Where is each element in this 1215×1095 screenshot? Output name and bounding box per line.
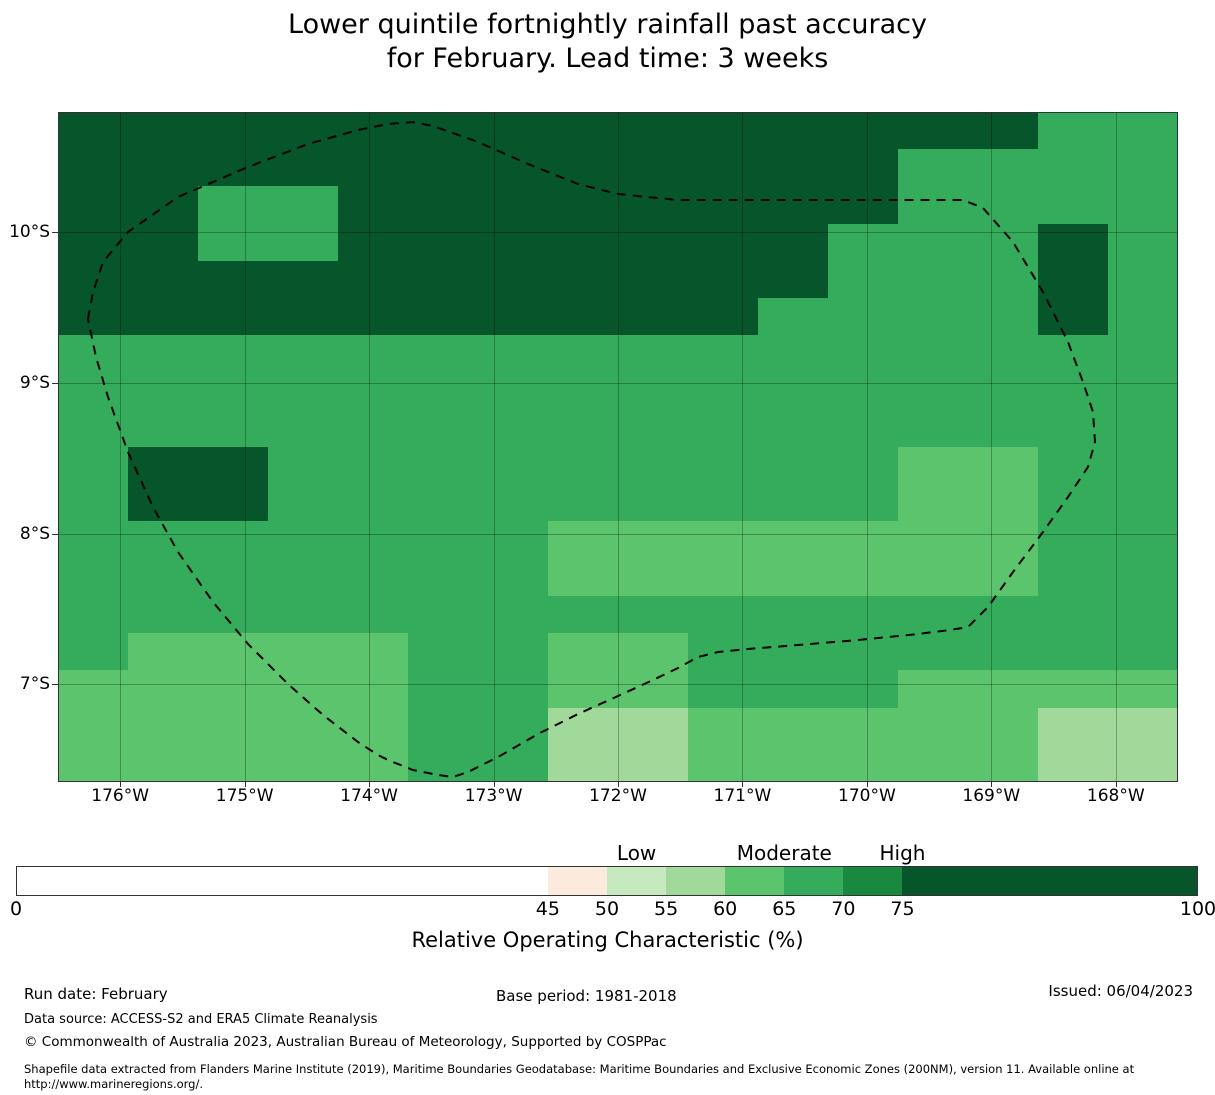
heatmap-cell — [478, 149, 549, 187]
heatmap-cell — [1108, 484, 1178, 522]
heatmap-cell — [758, 410, 829, 448]
heatmap-cell — [968, 559, 1039, 597]
heatmap-cell — [758, 670, 829, 708]
heatmap-cell — [828, 335, 899, 373]
heatmap-cell — [478, 447, 549, 485]
heatmap-cell — [1108, 298, 1178, 336]
heatmap-cell — [898, 484, 969, 522]
heatmap-cell — [268, 410, 339, 448]
heatmap-cell — [1038, 633, 1109, 671]
heatmap-cell — [898, 298, 969, 336]
y-tick-mark — [52, 232, 58, 233]
heatmap-cell — [128, 447, 199, 485]
heatmap-cell — [128, 261, 199, 299]
heatmap-cell — [58, 670, 129, 708]
heatmap-cell — [758, 261, 829, 299]
heatmap-cell — [548, 224, 619, 262]
heatmap-cell — [1038, 410, 1109, 448]
heatmap-cell — [198, 708, 269, 746]
heatmap-cell — [828, 708, 899, 746]
heatmap-cell — [128, 335, 199, 373]
heatmap-cell — [548, 559, 619, 597]
heatmap-cell — [758, 149, 829, 187]
heatmap-cell — [968, 186, 1039, 224]
heatmap-cell — [898, 670, 969, 708]
heatmap-cell — [268, 745, 339, 782]
heatmap-cell — [688, 633, 759, 671]
heatmap-cell — [618, 261, 689, 299]
heatmap-cell — [408, 410, 479, 448]
colorbar-tick-label: 75 — [890, 898, 914, 920]
heatmap-cell — [618, 410, 689, 448]
colorbar-segment — [607, 867, 666, 895]
heatmap-cell — [1108, 708, 1178, 746]
heatmap-cell — [268, 298, 339, 336]
heatmap-cell — [198, 596, 269, 634]
heatmap-cell — [338, 298, 409, 336]
heatmap-cell — [128, 708, 199, 746]
colorbar-segment — [902, 867, 1197, 895]
heatmap-cell — [688, 298, 759, 336]
heatmap-cell — [1108, 633, 1178, 671]
heatmap-cell — [968, 745, 1039, 782]
heatmap-cell — [1038, 559, 1109, 597]
heatmap-cell — [758, 596, 829, 634]
heatmap-cell — [1108, 112, 1178, 150]
heatmap-cell — [268, 596, 339, 634]
heatmap-cell — [548, 335, 619, 373]
heatmap-cell — [688, 708, 759, 746]
heatmap-cell — [338, 559, 409, 597]
heatmap-cell — [828, 373, 899, 411]
heatmap-cell — [198, 335, 269, 373]
heatmap-cell — [338, 596, 409, 634]
heatmap-cell — [338, 708, 409, 746]
heatmap-cell — [268, 484, 339, 522]
heatmap-cell — [828, 633, 899, 671]
heatmap-cell — [1108, 186, 1178, 224]
colorbar-tick-label: 55 — [654, 898, 678, 920]
heatmap-cell — [1108, 410, 1178, 448]
heatmap-cell — [548, 484, 619, 522]
x-tick-label: 170°W — [838, 786, 896, 806]
heatmap-cell — [968, 633, 1039, 671]
colorbar-tick-label: 60 — [713, 898, 737, 920]
heatmap-cell — [58, 708, 129, 746]
heatmap-cell — [58, 410, 129, 448]
heatmap-cell — [198, 521, 269, 559]
heatmap-cell — [1108, 559, 1178, 597]
heatmap-cell — [338, 521, 409, 559]
heatmap-cell — [1038, 298, 1109, 336]
heatmap-cell — [478, 484, 549, 522]
heatmap-cell — [268, 335, 339, 373]
heatmap-cell — [58, 596, 129, 634]
heatmap-cell — [128, 186, 199, 224]
heatmap-cell — [1038, 186, 1109, 224]
heatmap-cell — [58, 373, 129, 411]
heatmap-cell — [758, 447, 829, 485]
heatmap-cell — [618, 447, 689, 485]
heatmap-cell — [408, 112, 479, 150]
heatmap-cell — [548, 410, 619, 448]
heatmap-cell — [618, 559, 689, 597]
heatmap-cell — [478, 298, 549, 336]
heatmap-cell — [758, 112, 829, 150]
heatmap-cell — [548, 149, 619, 187]
heatmap-cell — [758, 224, 829, 262]
heatmap-cell — [828, 484, 899, 522]
heatmap-cell — [688, 447, 759, 485]
heatmap-cell — [408, 298, 479, 336]
heatmap-cell — [898, 261, 969, 299]
heatmap-cell — [478, 410, 549, 448]
heatmap-cell — [618, 149, 689, 187]
heatmap-cell — [688, 224, 759, 262]
heatmap-cell — [408, 261, 479, 299]
heatmap-cell — [128, 373, 199, 411]
x-tick-label: 172°W — [589, 786, 647, 806]
heatmap-cell — [898, 559, 969, 597]
y-tick-mark — [52, 534, 58, 535]
heatmap-cell — [198, 224, 269, 262]
heatmap-cell — [618, 670, 689, 708]
heatmap-cell — [338, 335, 409, 373]
heatmap-cell — [688, 112, 759, 150]
heatmap-cell — [828, 596, 899, 634]
heatmap-cell — [968, 410, 1039, 448]
heatmap-cell — [1108, 670, 1178, 708]
heatmap-cell — [688, 373, 759, 411]
heatmap-cell — [478, 521, 549, 559]
heatmap-cell — [828, 261, 899, 299]
heatmap-cell — [58, 298, 129, 336]
heatmap-cell — [548, 670, 619, 708]
heatmap-cell — [968, 224, 1039, 262]
heatmap-cell — [828, 186, 899, 224]
heatmap-cell — [548, 633, 619, 671]
heatmap-cell — [408, 484, 479, 522]
heatmap-cell — [478, 633, 549, 671]
heatmap-cell — [1108, 373, 1178, 411]
heatmap-cell — [338, 410, 409, 448]
colorbar-tick-label: 70 — [831, 898, 855, 920]
colorbar-segment — [725, 867, 784, 895]
footer-copyright: © Commonwealth of Australia 2023, Austra… — [24, 1034, 667, 1050]
heatmap-cell — [548, 298, 619, 336]
heatmap-cell — [828, 112, 899, 150]
heatmap-cell — [268, 670, 339, 708]
heatmap-cell — [408, 149, 479, 187]
colorbar-category-high: High — [880, 841, 926, 865]
heatmap-cell — [58, 447, 129, 485]
x-tick-label: 171°W — [714, 786, 772, 806]
heatmap-cell — [618, 745, 689, 782]
heatmap-cell — [408, 745, 479, 782]
heatmap-cell — [408, 186, 479, 224]
heatmap-cell — [898, 224, 969, 262]
heatmap-cell — [828, 149, 899, 187]
heatmap-cell — [688, 410, 759, 448]
heatmap-cell — [198, 559, 269, 597]
heatmap-cell — [968, 335, 1039, 373]
heatmap-cell — [128, 633, 199, 671]
heatmap-cell — [1038, 670, 1109, 708]
heatmap-cell — [338, 112, 409, 150]
heatmap-cell — [128, 298, 199, 336]
heatmap-cell — [408, 373, 479, 411]
heatmap-cell — [1038, 484, 1109, 522]
heatmap-cell — [898, 149, 969, 187]
heatmap-cell — [1038, 447, 1109, 485]
heatmap-cell — [758, 484, 829, 522]
x-tick-label: 168°W — [1087, 786, 1145, 806]
heatmap-cell — [128, 596, 199, 634]
heatmap-cell — [408, 633, 479, 671]
colorbar-category-moderate: Moderate — [737, 841, 832, 865]
heatmap-cell — [618, 298, 689, 336]
footer-data-source: Data source: ACCESS-S2 and ERA5 Climate … — [24, 1012, 378, 1027]
heatmap-cell — [478, 670, 549, 708]
heatmap-cell — [618, 521, 689, 559]
heatmap-cell — [478, 745, 549, 782]
heatmap-cell — [128, 224, 199, 262]
heatmap-cell — [198, 484, 269, 522]
heatmap-cell — [338, 224, 409, 262]
y-tick-label: 7°S — [20, 674, 50, 694]
heatmap-cell — [338, 447, 409, 485]
footer-shapefile-note: Shapefile data extracted from Flanders M… — [24, 1062, 1201, 1092]
heatmap-cell — [268, 447, 339, 485]
heatmap-cell — [128, 670, 199, 708]
heatmap-cell — [898, 596, 969, 634]
heatmap-cell — [688, 186, 759, 224]
heatmap-cell — [898, 335, 969, 373]
heatmap-cell — [198, 410, 269, 448]
heatmap-cell — [338, 484, 409, 522]
heatmap-cell — [338, 373, 409, 411]
heatmap-cell — [408, 224, 479, 262]
heatmap-cell — [688, 745, 759, 782]
heatmap-cell — [58, 484, 129, 522]
colorbar-category-low: Low — [617, 841, 656, 865]
heatmap-cell — [618, 373, 689, 411]
heatmap-cell — [548, 596, 619, 634]
x-tick-label: 175°W — [216, 786, 274, 806]
heatmap-cell — [828, 559, 899, 597]
heatmap-cell — [268, 559, 339, 597]
heatmap-cell — [758, 745, 829, 782]
heatmap-cell — [898, 373, 969, 411]
heatmap-cell — [898, 112, 969, 150]
heatmap-cell — [758, 559, 829, 597]
x-tick-label: 169°W — [962, 786, 1020, 806]
heatmap-cell — [898, 521, 969, 559]
heatmap-cell — [618, 708, 689, 746]
heatmap-cell — [618, 633, 689, 671]
heatmap-cell — [478, 373, 549, 411]
heatmap-cell — [548, 745, 619, 782]
heatmap-cell — [1038, 335, 1109, 373]
footer-base-period: Base period: 1981-2018 — [496, 987, 677, 1005]
heatmap-cell — [758, 521, 829, 559]
heatmap-cell — [408, 670, 479, 708]
heatmap-cell — [268, 186, 339, 224]
heatmap-cell — [1108, 224, 1178, 262]
heatmap-cell — [268, 708, 339, 746]
heatmap-cell — [548, 186, 619, 224]
heatmap-cell — [828, 224, 899, 262]
heatmap-cell — [58, 261, 129, 299]
heatmap-cell — [478, 335, 549, 373]
heatmap-cell — [58, 559, 129, 597]
heatmap-cell — [898, 186, 969, 224]
heatmap-cell — [338, 633, 409, 671]
heatmap-cell — [688, 596, 759, 634]
heatmap-cell — [828, 521, 899, 559]
heatmap-cell — [408, 708, 479, 746]
heatmap-cell — [408, 521, 479, 559]
heatmap-cell — [478, 261, 549, 299]
heatmap-cell — [128, 484, 199, 522]
heatmap-cell — [618, 186, 689, 224]
heatmap-cell — [828, 298, 899, 336]
colorbar-segment — [548, 867, 607, 895]
heatmap-cell — [688, 521, 759, 559]
heatmap-cell — [478, 708, 549, 746]
colorbar-tick-labels: 045505560657075100 — [0, 898, 1215, 922]
heatmap-cell — [548, 373, 619, 411]
colorbar-segment — [666, 867, 725, 895]
colorbar-segment — [843, 867, 902, 895]
heatmap-cell — [758, 373, 829, 411]
heatmap-cell — [898, 708, 969, 746]
heatmap-cell — [828, 745, 899, 782]
heatmap-cell — [1038, 112, 1109, 150]
heatmap-cell — [618, 335, 689, 373]
heatmap-map — [58, 112, 1178, 782]
heatmap-cell — [548, 521, 619, 559]
colorbar-tick-label: 50 — [595, 898, 619, 920]
heatmap-cell — [898, 447, 969, 485]
heatmap-cell — [128, 559, 199, 597]
colorbar — [16, 866, 1198, 896]
heatmap-cell — [1108, 149, 1178, 187]
heatmap-cell — [1108, 261, 1178, 299]
heatmap-cell — [1108, 596, 1178, 634]
heatmap-cell — [1038, 745, 1109, 782]
heatmap-cell — [268, 224, 339, 262]
heatmap-cell — [58, 149, 129, 187]
heatmap-cell — [548, 112, 619, 150]
y-tick-label: 10°S — [9, 222, 50, 242]
heatmap-cell — [758, 335, 829, 373]
y-tick-label: 8°S — [20, 524, 50, 544]
heatmap-cell — [478, 112, 549, 150]
heatmap-cell — [898, 410, 969, 448]
heatmap-cell — [548, 447, 619, 485]
heatmap-cell — [198, 633, 269, 671]
y-tick-mark — [52, 684, 58, 685]
heatmap-cell — [58, 633, 129, 671]
colorbar-tick-label: 45 — [536, 898, 560, 920]
heatmap-cell — [1038, 149, 1109, 187]
heatmap-cell — [548, 261, 619, 299]
heatmap-cell — [198, 298, 269, 336]
heatmap-cell — [198, 447, 269, 485]
heatmap-cell — [968, 261, 1039, 299]
heatmap-cell — [898, 633, 969, 671]
page-title: Lower quintile fortnightly rainfall past… — [0, 8, 1215, 76]
heatmap-cell — [338, 149, 409, 187]
heatmap-cell — [478, 224, 549, 262]
heatmap-cell — [198, 186, 269, 224]
footer-issued: Issued: 06/04/2023 — [1048, 982, 1193, 1000]
heatmap-cell — [128, 521, 199, 559]
colorbar-segment — [17, 867, 548, 895]
colorbar-tick-label: 0 — [10, 898, 22, 920]
heatmap-cell — [58, 112, 129, 150]
footer: Run date: February Base period: 1981-201… — [0, 982, 1215, 1095]
heatmap-cell — [338, 745, 409, 782]
heatmap-cell — [478, 186, 549, 224]
x-tick-label: 173°W — [465, 786, 523, 806]
heatmap-cell — [198, 112, 269, 150]
heatmap-cell — [758, 186, 829, 224]
heatmap-cell — [128, 149, 199, 187]
heatmap-cell — [898, 745, 969, 782]
heatmap-cell — [968, 670, 1039, 708]
heatmap-cell — [1108, 335, 1178, 373]
y-tick-label: 9°S — [20, 373, 50, 393]
heatmap-cell — [268, 149, 339, 187]
heatmap-cell — [408, 335, 479, 373]
heatmap-cell — [1038, 224, 1109, 262]
heatmap-cell — [758, 633, 829, 671]
heatmap-cell — [968, 596, 1039, 634]
heatmap-cell — [968, 149, 1039, 187]
heatmap-cell — [688, 149, 759, 187]
heatmap-cell — [688, 261, 759, 299]
heatmap-cell — [1038, 521, 1109, 559]
heatmap-cells — [58, 112, 1178, 782]
heatmap-cell — [128, 112, 199, 150]
heatmap-cell — [758, 298, 829, 336]
heatmap-cell — [1038, 596, 1109, 634]
heatmap-cell — [128, 745, 199, 782]
heatmap-cell — [688, 670, 759, 708]
heatmap-cell — [688, 335, 759, 373]
heatmap-cell — [618, 112, 689, 150]
heatmap-cell — [198, 745, 269, 782]
heatmap-cell — [268, 261, 339, 299]
heatmap-cell — [968, 447, 1039, 485]
x-tick-label: 176°W — [91, 786, 149, 806]
heatmap-cell — [828, 410, 899, 448]
heatmap-cell — [828, 447, 899, 485]
heatmap-cell — [828, 670, 899, 708]
colorbar-category-labels: LowModerateHigh — [0, 841, 1215, 867]
heatmap-cell — [478, 559, 549, 597]
heatmap-cell — [1038, 708, 1109, 746]
heatmap-cell — [688, 484, 759, 522]
heatmap-cell — [338, 186, 409, 224]
heatmap-cell — [968, 298, 1039, 336]
heatmap-cell — [618, 484, 689, 522]
heatmap-cell — [58, 745, 129, 782]
heatmap-cell — [338, 670, 409, 708]
heatmap-cell — [758, 708, 829, 746]
